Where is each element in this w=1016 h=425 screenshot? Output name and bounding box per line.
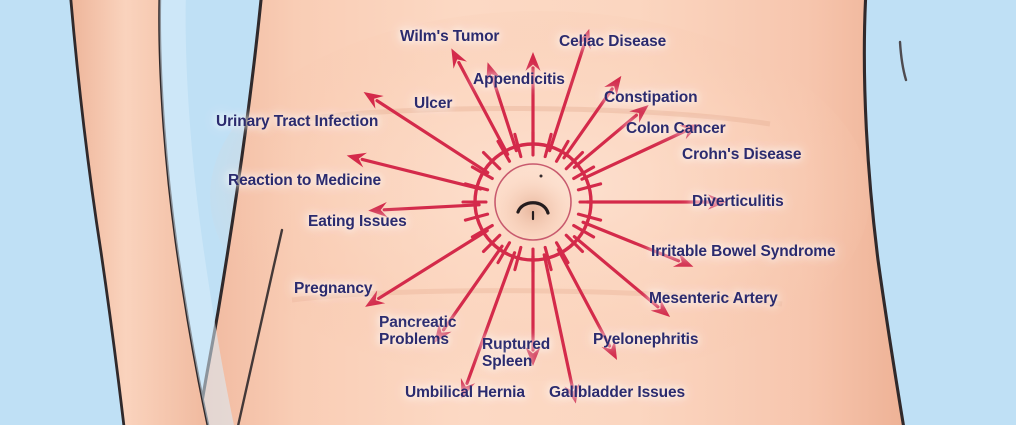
label-pancreatic-problems[interactable]: Pancreatic Problems xyxy=(379,314,456,349)
label-constipation[interactable]: Constipation xyxy=(604,89,698,106)
label-diverticulitis[interactable]: Diverticulitis xyxy=(692,193,784,210)
arrow-shaft xyxy=(582,131,685,179)
sunburst-inner-ring xyxy=(495,164,571,240)
navel-sunburst xyxy=(463,132,603,272)
abdominal-pain-diagram: Wilm's TumorCeliac DiseaseAppendicitisCo… xyxy=(0,0,1016,425)
label-pregnancy[interactable]: Pregnancy xyxy=(294,280,372,297)
arrow-shaft xyxy=(384,205,479,210)
label-pyelonephritis[interactable]: Pyelonephritis xyxy=(593,331,698,348)
label-gallbladder-issues[interactable]: Gallbladder Issues xyxy=(549,384,685,401)
arrow-appendicitis[interactable] xyxy=(525,52,540,148)
label-mesenteric-artery[interactable]: Mesenteric Artery xyxy=(649,290,778,307)
label-umbilical-hernia[interactable]: Umbilical Hernia xyxy=(405,384,525,401)
label-appendicitis[interactable]: Appendicitis xyxy=(473,71,565,88)
arrow-umbilical-hernia[interactable] xyxy=(461,253,515,399)
label-ulcer[interactable]: Ulcer xyxy=(414,95,452,112)
label-eating-issues[interactable]: Eating Issues xyxy=(308,213,407,230)
label-colon-cancer[interactable]: Colon Cancer xyxy=(626,120,726,137)
arrow-shaft xyxy=(493,77,517,150)
label-urinary-tract-infection[interactable]: Urinary Tract Infection xyxy=(216,113,378,130)
label-reaction-to-medicine[interactable]: Reaction to Medicine xyxy=(228,172,381,189)
arrow-head xyxy=(364,92,384,109)
label-crohns-disease[interactable]: Crohn's Disease xyxy=(682,146,801,163)
label-celiac-disease[interactable]: Celiac Disease xyxy=(559,33,666,50)
label-ruptured-spleen[interactable]: Ruptured Spleen xyxy=(482,336,550,371)
label-irritable-bowel-syndrome[interactable]: Irritable Bowel Syndrome xyxy=(651,243,836,260)
label-wilms-tumor[interactable]: Wilm's Tumor xyxy=(400,28,499,45)
